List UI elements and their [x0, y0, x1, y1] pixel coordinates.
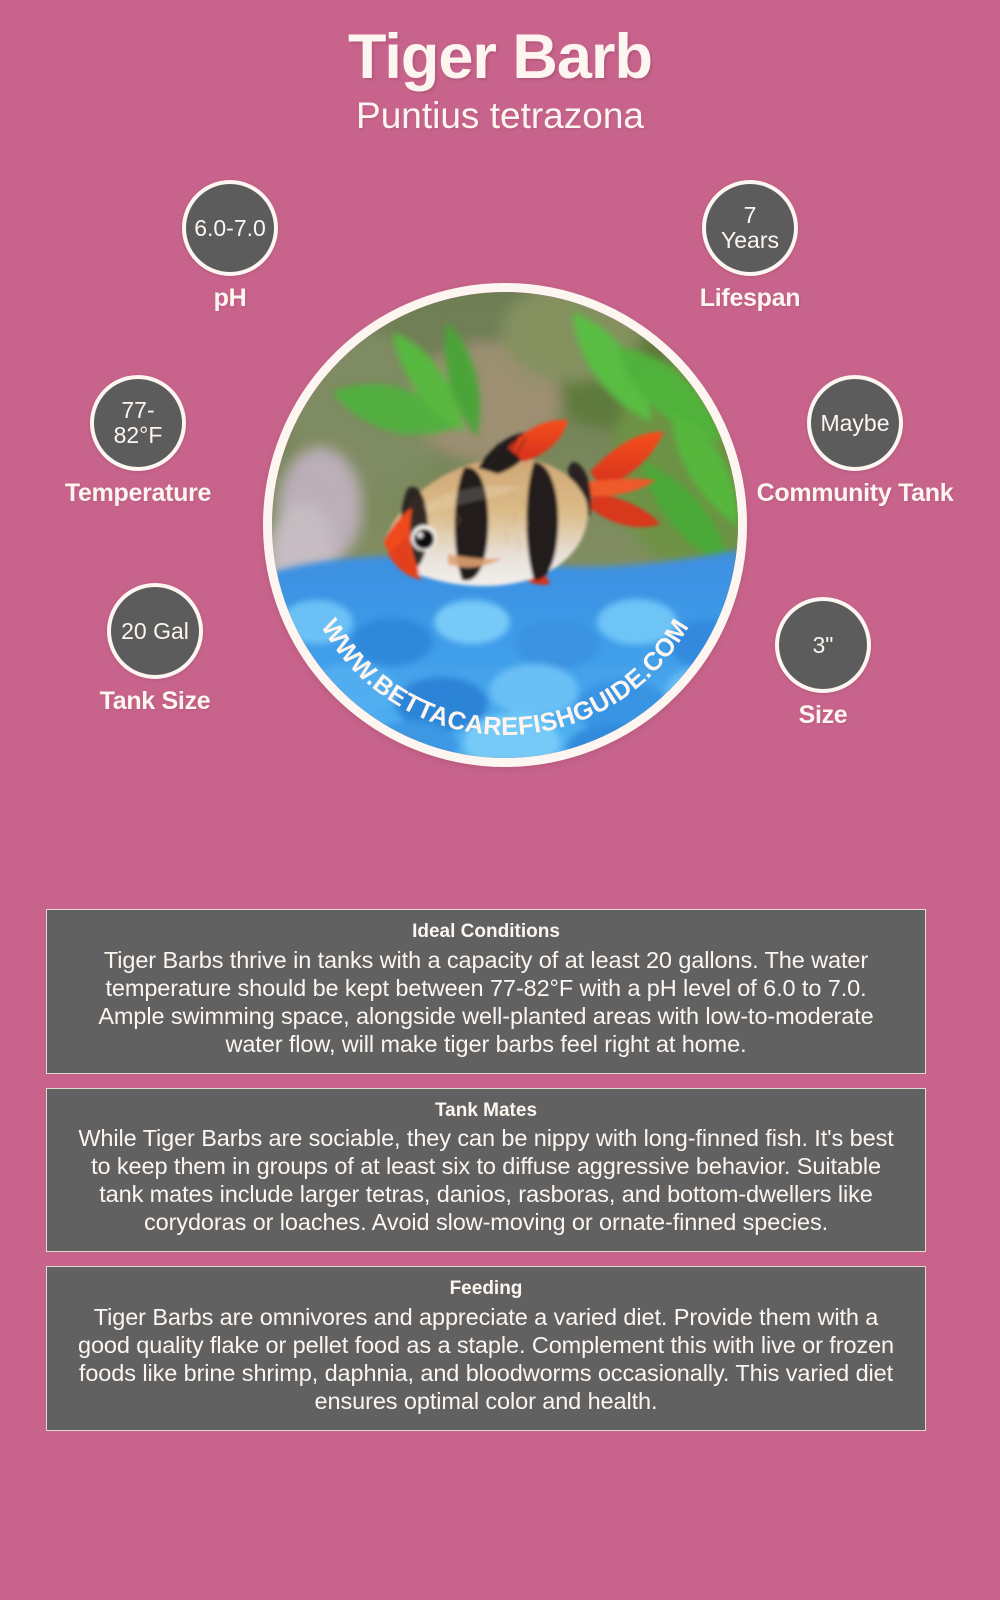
badge-tank-size: 20 Gal Tank Size [35, 583, 275, 715]
badge-value-temperature: 77-82°F [94, 398, 182, 448]
fish-photo [272, 292, 738, 758]
header: Tiger Barb Puntius tetrazona [0, 26, 1000, 134]
panel-title-ideal-conditions: Ideal Conditions [71, 921, 901, 944]
badge-label-tank-size: Tank Size [35, 688, 275, 715]
badge-circle-tank-size: 20 Gal [107, 583, 203, 679]
fish-photo-ring [263, 283, 747, 767]
badge-temperature: 77-82°F Temperature [18, 375, 258, 507]
badge-circle-temperature: 77-82°F [90, 375, 186, 471]
panel-tank-mates: Tank Mates While Tiger Barbs are sociabl… [46, 1088, 926, 1253]
panel-ideal-conditions: Ideal Conditions Tiger Barbs thrive in t… [46, 909, 926, 1074]
badge-value-size: 3" [810, 633, 837, 658]
badge-value-community-tank: Maybe [817, 411, 892, 436]
badge-label-community-tank: Community Tank [735, 480, 975, 507]
panel-body-feeding: Tiger Barbs are omnivores and appreciate… [71, 1304, 901, 1416]
badge-circle-lifespan: 7 Years [702, 180, 798, 276]
fish-photo-container: WWW.BETTACAREFISHGUIDE.COM [263, 283, 747, 767]
panel-body-ideal-conditions: Tiger Barbs thrive in tanks with a capac… [71, 947, 901, 1059]
badge-circle-size: 3" [775, 597, 871, 693]
page-title: Tiger Barb [0, 26, 1000, 89]
badge-community-tank: Maybe Community Tank [735, 375, 975, 507]
badge-circle-community-tank: Maybe [807, 375, 903, 471]
badge-value-ph: 6.0-7.0 [191, 216, 269, 241]
badge-value-tank-size: 20 Gal [118, 619, 192, 644]
scientific-name: Puntius tetrazona [0, 97, 1000, 134]
infographic-page: Tiger Barb Puntius tetrazona 6.0-7.0 pH … [0, 0, 1000, 1600]
badge-value-lifespan: 7 Years [718, 203, 782, 253]
panel-title-tank-mates: Tank Mates [71, 1100, 901, 1123]
panel-body-tank-mates: While Tiger Barbs are sociable, they can… [71, 1125, 901, 1237]
info-panels: Ideal Conditions Tiger Barbs thrive in t… [46, 909, 926, 1445]
fish-photo-illustration [272, 292, 738, 758]
panel-title-feeding: Feeding [71, 1278, 901, 1301]
panel-feeding: Feeding Tiger Barbs are omnivores and ap… [46, 1266, 926, 1431]
badge-circle-ph: 6.0-7.0 [182, 180, 278, 276]
badge-label-temperature: Temperature [18, 480, 258, 507]
